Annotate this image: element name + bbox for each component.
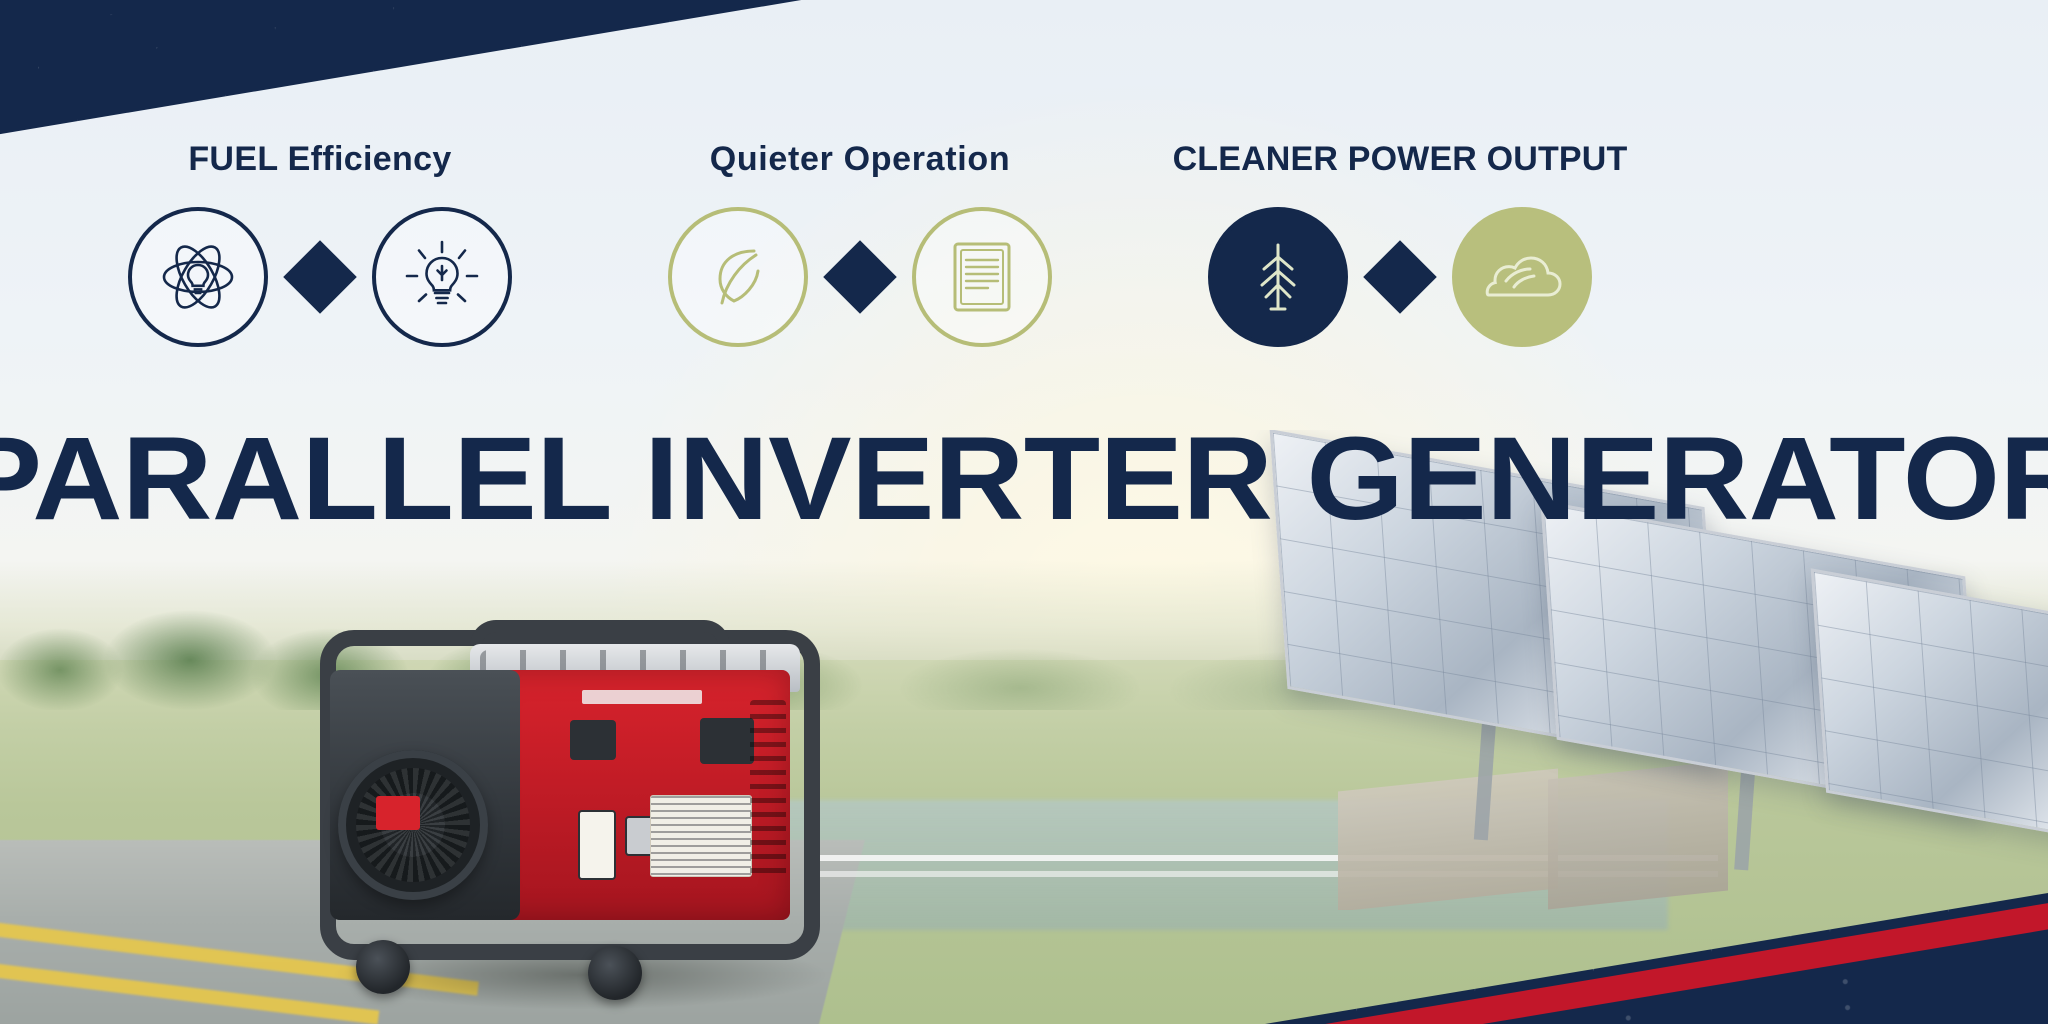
solar-panel [1811,568,2048,852]
feature-cleaner-power-output: CLEANER POWER OUTPUT [1180,140,1620,347]
solar-base-block [1338,768,1558,910]
lightbulb-rays-icon [372,207,512,347]
tree-icon [1208,207,1348,347]
feature-icon-row [1208,207,1592,347]
generator-outlet [570,720,616,760]
document-lines-icon [912,207,1052,347]
generator-spec-label [650,795,752,877]
solar-base-block-2 [1548,761,1728,910]
feature-fuel-efficiency: FUEL Efficiency [120,140,520,347]
solar-support-leg-2 [1734,760,1756,871]
feature-icon-row [668,207,1052,347]
generator-switch [578,810,616,880]
diamond-divider [1363,240,1437,314]
feature-title: Quieter Operation [710,140,1011,179]
feature-title: CLEANER POWER OUTPUT [1173,140,1628,179]
generator-brand-plate [582,690,702,704]
generator-handle [470,620,730,646]
leaf-icon [668,207,808,347]
diamond-divider [823,240,897,314]
feature-icon-row [128,207,512,347]
feature-title: FUEL Efficiency [188,140,451,179]
banner-canvas: FUEL Efficiency [0,0,2048,1024]
generator-badge [376,796,420,830]
atom-bulb-icon [128,207,268,347]
feature-row: FUEL Efficiency [0,140,2048,400]
generator-wheel [356,940,410,994]
cloud-leaves-icon [1452,207,1592,347]
diamond-divider [283,240,357,314]
page-title: PARALLEL INVERTER GENERATOR [0,420,2048,538]
generator-outlet [700,718,754,764]
generator-side-vents [750,700,786,880]
generator-product-image [320,610,840,1010]
feature-quieter-operation: Quieter Operation [660,140,1060,347]
generator-wheel [588,946,642,1000]
